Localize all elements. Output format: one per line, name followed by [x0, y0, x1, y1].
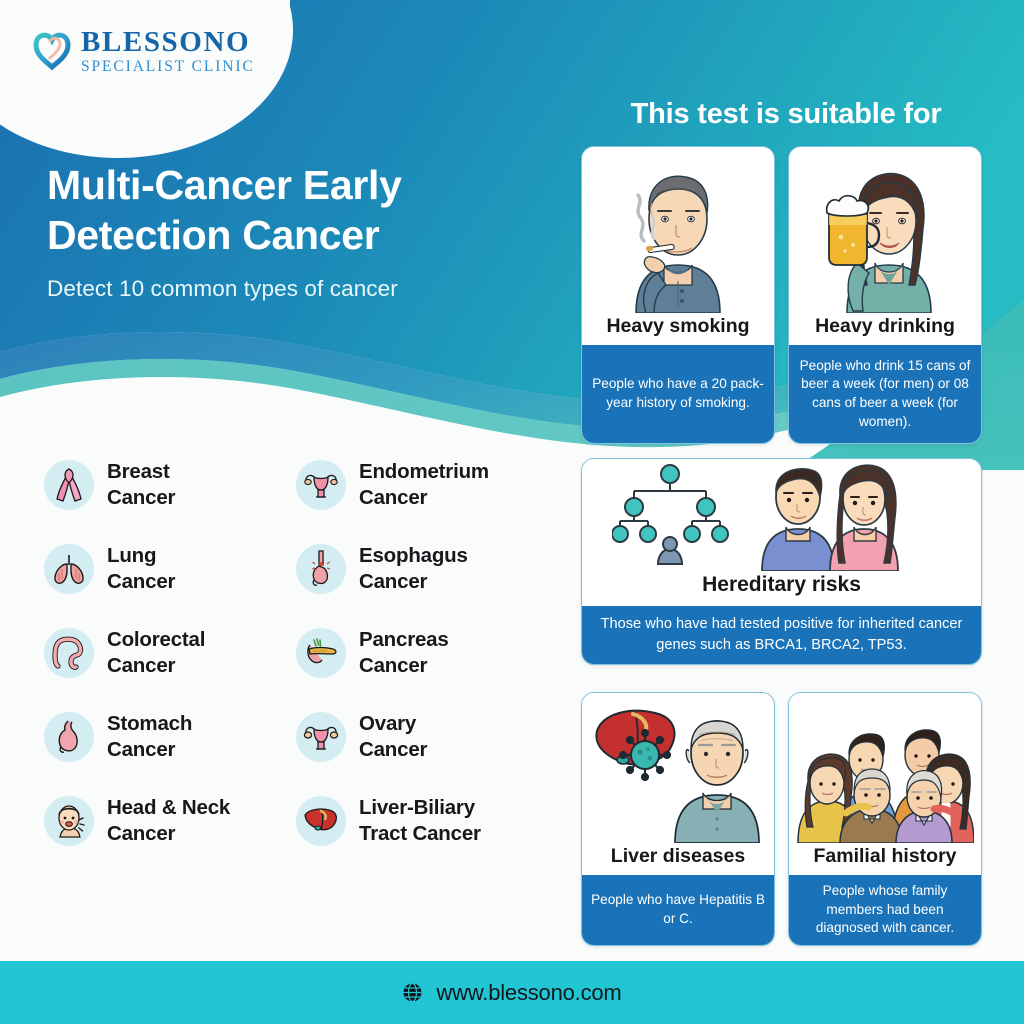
suitable-heading: This test is suitable for [581, 98, 991, 131]
cancer-label: Pancreas Cancer [359, 627, 449, 679]
footer-bar: www.blessono.com [0, 961, 1024, 1024]
card-title: Hereditary risks [582, 571, 981, 606]
card-title: Heavy drinking [789, 313, 981, 345]
cancer-label: Stomach Cancer [107, 711, 192, 763]
cancer-label: Colorectal Cancer [107, 627, 205, 679]
cancer-item: Ovary Cancer [296, 695, 574, 779]
esophagus-stomach-icon [296, 544, 346, 594]
cancer-item: Breast Cancer [44, 443, 296, 527]
brand-name: BLESSONO [81, 28, 255, 57]
cancer-label: Endometrium Cancer [359, 459, 489, 511]
family-tree-couple-illustration [582, 459, 981, 571]
suitable-card-familial-history[interactable]: Familial history People whose family mem… [788, 692, 982, 946]
pink-ribbon-icon [44, 460, 94, 510]
cancer-item: Stomach Cancer [44, 695, 296, 779]
cancer-label: Liver-Biliary Tract Cancer [359, 795, 481, 847]
family-group-illustration [789, 693, 981, 843]
woman-with-beer-illustration [789, 147, 981, 313]
card-title: Heavy smoking [582, 313, 774, 345]
card-title: Liver diseases [582, 843, 774, 875]
cancer-label: Head & Neck Cancer [107, 795, 230, 847]
card-title: Familial history [789, 843, 981, 875]
ovary-icon [296, 712, 346, 762]
pancreas-icon [296, 628, 346, 678]
man-smoking-illustration [582, 147, 774, 313]
globe-icon [402, 982, 423, 1003]
card-description: Those who have had tested positive for i… [582, 606, 981, 664]
cancer-item: Head & Neck Cancer [44, 779, 296, 863]
suitable-card-heavy-drinking[interactable]: Heavy drinking People who drink 15 cans … [788, 146, 982, 444]
cancer-item: Esophagus Cancer [296, 527, 574, 611]
card-description: People who have Hepatitis B or C. [582, 875, 774, 945]
website-url[interactable]: www.blessono.com [436, 980, 621, 1006]
brand-logo[interactable]: BLESSONO SPECIALIST CLINIC [30, 28, 255, 75]
headline-title-line1: Multi-Cancer Early [47, 160, 567, 210]
colon-icon [44, 628, 94, 678]
cancer-item: Lung Cancer [44, 527, 296, 611]
cancer-item: Liver-Biliary Tract Cancer [296, 779, 574, 863]
liver-icon [296, 796, 346, 846]
cancer-item: Endometrium Cancer [296, 443, 574, 527]
cancer-label: Ovary Cancer [359, 711, 427, 763]
infographic-poster: BLESSONO SPECIALIST CLINIC Multi-Cancer … [0, 0, 1024, 1024]
cancer-label: Lung Cancer [107, 543, 175, 595]
suitable-card-hereditary-risks[interactable]: Hereditary risks Those who have had test… [581, 458, 982, 665]
liver-virus-elderly-man-illustration [582, 693, 774, 843]
cancer-item: Colorectal Cancer [44, 611, 296, 695]
cancer-item: Pancreas Cancer [296, 611, 574, 695]
heart-ribbon-logo-icon [30, 29, 72, 73]
headline-title-line2: Detection Cancer [47, 210, 567, 260]
card-description: People who drink 15 cans of beer a week … [789, 345, 981, 443]
cancer-label: Breast Cancer [107, 459, 175, 511]
cancer-label: Esophagus Cancer [359, 543, 468, 595]
suitable-card-liver-diseases[interactable]: Liver diseases People who have Hepatitis… [581, 692, 775, 946]
cancer-types-list: Breast Cancer Endometrium Cancer [44, 443, 574, 863]
card-description: People whose family members had been dia… [789, 875, 981, 945]
headline-block: Multi-Cancer Early Detection Cancer Dete… [47, 160, 567, 302]
head-neck-icon [44, 796, 94, 846]
stomach-icon [44, 712, 94, 762]
suitable-card-heavy-smoking[interactable]: Heavy smoking People who have a 20 pack-… [581, 146, 775, 444]
headline-subtitle: Detect 10 common types of cancer [47, 276, 567, 302]
uterus-icon [296, 460, 346, 510]
brand-tagline: SPECIALIST CLINIC [81, 59, 255, 75]
lungs-icon [44, 544, 94, 594]
card-description: People who have a 20 pack-year history o… [582, 345, 774, 443]
